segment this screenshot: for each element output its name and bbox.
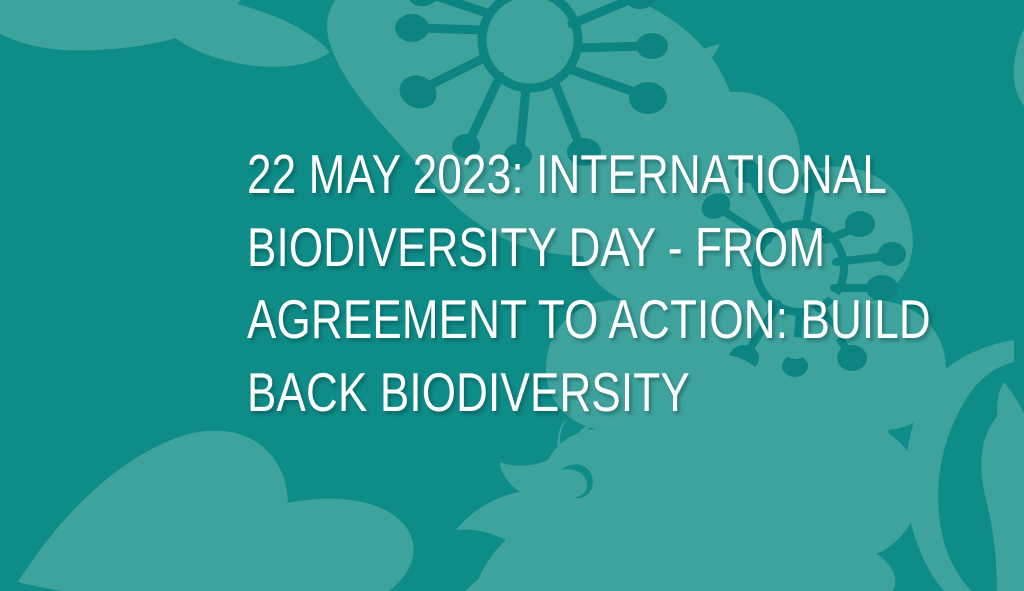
petal-top-right-edge-icon [1014, 0, 1024, 120]
title-line-4: BACK BIODIVERSITY [247, 356, 695, 429]
peacock-bottom-center-icon [146, 418, 721, 591]
leaf-bottom-center-icon [440, 548, 548, 591]
pointed-leaf-bottom-right-icon [981, 410, 1024, 591]
flower-top-center-stamens-icon [418, 0, 646, 150]
biodiversity-day-banner: 22 MAY 2023: INTERNATIONAL BIODIVERSITY … [0, 0, 1024, 591]
vine-bottom-right-icon [810, 340, 1024, 591]
leaf-top-left-icon [0, 0, 250, 50]
title-line-1: 22 MAY 2023: INTERNATIONAL [247, 138, 695, 211]
leaf-bottom-left-icon [18, 431, 288, 591]
leaf-top-left-lower-icon [150, 0, 330, 67]
petal-blob-bottom-right-icon [609, 561, 875, 591]
page-title: 22 MAY 2023: INTERNATIONAL BIODIVERSITY … [247, 138, 807, 428]
title-line-3: AGREEMENT TO ACTION: BUILD [247, 283, 695, 356]
title-line-2: BIODIVERSITY DAY - FROM [247, 211, 695, 284]
